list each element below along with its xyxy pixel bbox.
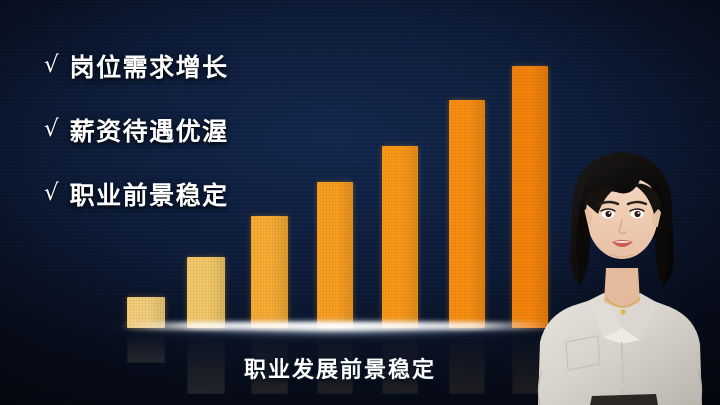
- benefit-list: √ 岗位需求增长 √ 薪资待遇优渥 √ 职业前景稳定: [44, 48, 229, 212]
- presenter-head: [570, 152, 674, 286]
- list-item-label: 岗位需求增长: [70, 48, 229, 84]
- bar-reflection-4: [317, 332, 353, 394]
- bar-reflection-1: [127, 332, 165, 363]
- bar-1: [127, 297, 165, 328]
- bar-reflection-5: [382, 332, 418, 394]
- video-slide: √ 岗位需求增长 √ 薪资待遇优渥 √ 职业前景稳定: [0, 0, 720, 405]
- list-item: √ 薪资待遇优渥: [44, 112, 229, 148]
- bar-reflection-6: [449, 332, 485, 394]
- checkmark-icon: √: [44, 118, 59, 141]
- bar-5: [382, 146, 418, 328]
- presenter-torso: [538, 293, 702, 405]
- bar-2: [187, 257, 225, 328]
- presenter-figure: [520, 130, 720, 405]
- bar-reflection-2: [187, 332, 225, 394]
- list-item-label: 职业前景稳定: [70, 176, 229, 212]
- bar-reflection-3: [251, 332, 288, 394]
- bar-3: [251, 216, 288, 328]
- checkmark-icon: √: [44, 182, 59, 205]
- bar-6: [449, 100, 485, 328]
- list-item: √ 职业前景稳定: [44, 176, 229, 212]
- bar-4: [317, 182, 353, 328]
- list-item: √ 岗位需求增长: [44, 48, 229, 84]
- checkmark-icon: √: [44, 54, 59, 77]
- list-item-label: 薪资待遇优渥: [70, 112, 229, 148]
